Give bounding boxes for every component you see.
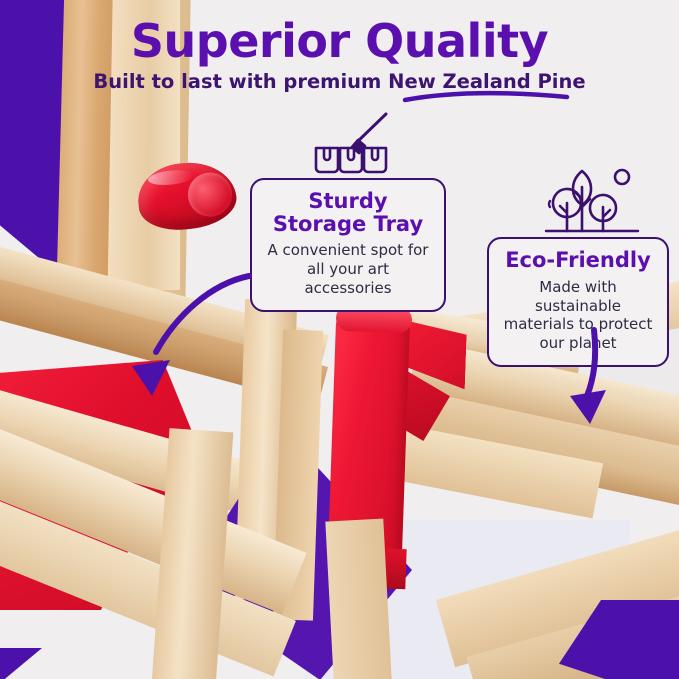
arrow-head-right [570,390,606,424]
callout-card-eco-friendly[interactable]: Eco-Friendly Made with sustainable mater… [487,237,669,367]
infographic-canvas: Superior Quality Built to last with prem… [0,0,679,679]
callout-card-sturdy-storage-tray[interactable]: Sturdy Storage Tray A convenient spot fo… [250,178,446,312]
page-title: Superior Quality [0,14,679,68]
overlay-layer: Superior Quality Built to last with prem… [0,0,679,679]
callout-body: Made with sustainable materials to prote… [501,278,655,354]
curved-underline-icon [405,93,567,100]
arrow-head-left [132,360,170,396]
callout-title: Eco-Friendly [501,249,655,272]
callout-body: A convenient spot for all your art acces… [264,241,432,298]
callout-title: Sturdy Storage Tray [264,190,432,235]
page-subtitle: Built to last with premium New Zealand P… [0,70,679,93]
curved-arrow-left-down-icon [156,276,249,352]
paint-pots-brush-icon [300,112,400,184]
trees-icon [540,165,644,243]
